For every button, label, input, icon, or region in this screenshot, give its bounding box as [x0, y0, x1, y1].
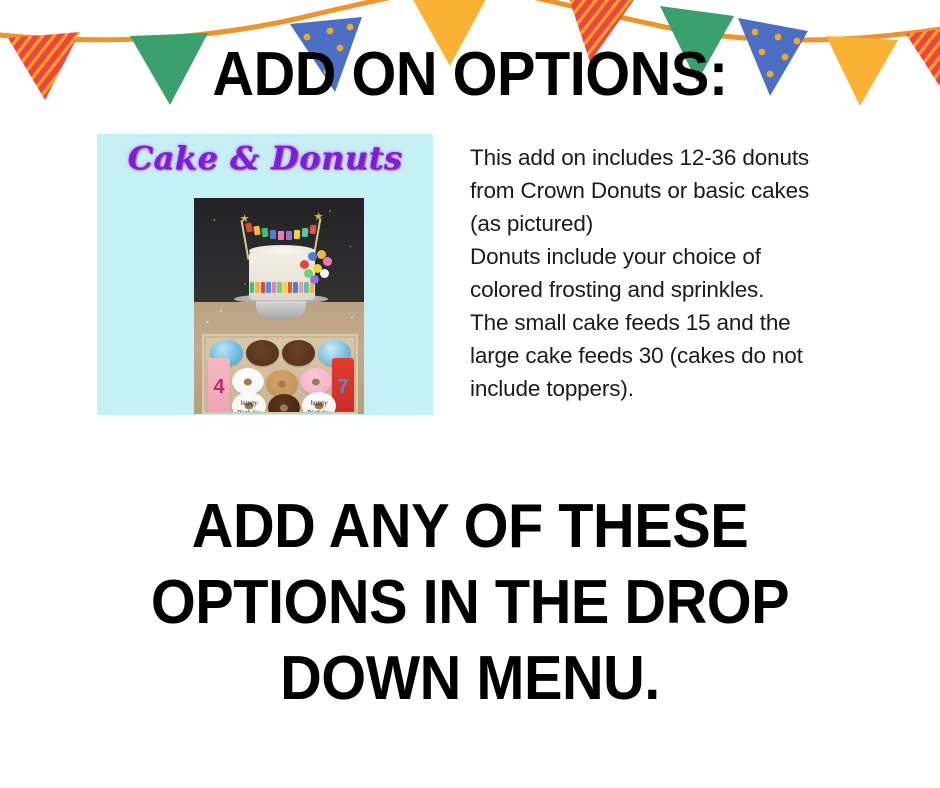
donut-glazed	[266, 370, 298, 397]
description-line: colored frosting and sprinkles.	[470, 273, 890, 306]
cta-line-1: ADD ANY OF THESE	[33, 496, 907, 558]
svg-text:Birthday: Birthday	[237, 409, 262, 414]
description-line: include toppers).	[470, 372, 890, 405]
svg-text:Birthday: Birthday	[307, 409, 332, 414]
donut-chocolate-sprinkles	[268, 394, 300, 414]
donut-text-happy-birthday-2: happy Birthday	[302, 396, 336, 414]
description-text: This add on includes 12-36 donuts from C…	[470, 141, 890, 405]
donut-choc-candle-1	[246, 340, 279, 366]
cta-line-2: OPTIONS IN THE DROP	[33, 572, 907, 634]
poster-canvas: ADD ON OPTIONS: Cake & Donuts	[0, 0, 940, 788]
donut-pink-sprinkles	[300, 368, 332, 395]
number-cake-4-glyph: 4	[208, 370, 230, 400]
description-line: large cake feeds 30 (cakes do not	[470, 339, 890, 372]
svg-text:happy: happy	[240, 399, 258, 407]
cake-pom-poms	[298, 250, 332, 284]
donut-choc-candle-2	[282, 340, 315, 366]
page-title-text: ADD ON OPTIONS:	[33, 44, 907, 106]
product-photo-card: Cake & Donuts	[97, 134, 433, 415]
description-line: from Crown Donuts or basic cakes	[470, 174, 890, 207]
svg-text:happy: happy	[310, 399, 328, 407]
description-line: Donuts include your choice of	[470, 240, 890, 273]
call-to-action-headline: ADD ANY OF THESE OPTIONS IN THE DROP DOW…	[0, 496, 940, 710]
donut-text-happy-birthday-1: happy Birthday	[232, 396, 266, 414]
cake-stand-base	[256, 301, 306, 319]
product-photo-caption: Cake & Donuts	[97, 142, 433, 174]
bunting-string-left	[0, 0, 470, 40]
donut-box: 4 7 happy Birthday happy Birthday	[202, 334, 358, 414]
description-line: This add on includes 12-36 donuts	[470, 141, 890, 174]
product-photo: 4 7 happy Birthday happy Birthday	[194, 198, 364, 414]
page-title: ADD ON OPTIONS:	[0, 44, 940, 106]
svg-text:7: 7	[337, 376, 348, 398]
bunting-string-right	[470, 0, 940, 40]
topper-flags	[246, 222, 320, 244]
donut-white-sprinkles	[232, 368, 264, 395]
description-line: (as pictured)	[470, 207, 890, 240]
description-line: The small cake feeds 15 and the	[470, 306, 890, 339]
cta-line-3: DOWN MENU.	[33, 648, 907, 710]
svg-text:4: 4	[213, 376, 225, 398]
